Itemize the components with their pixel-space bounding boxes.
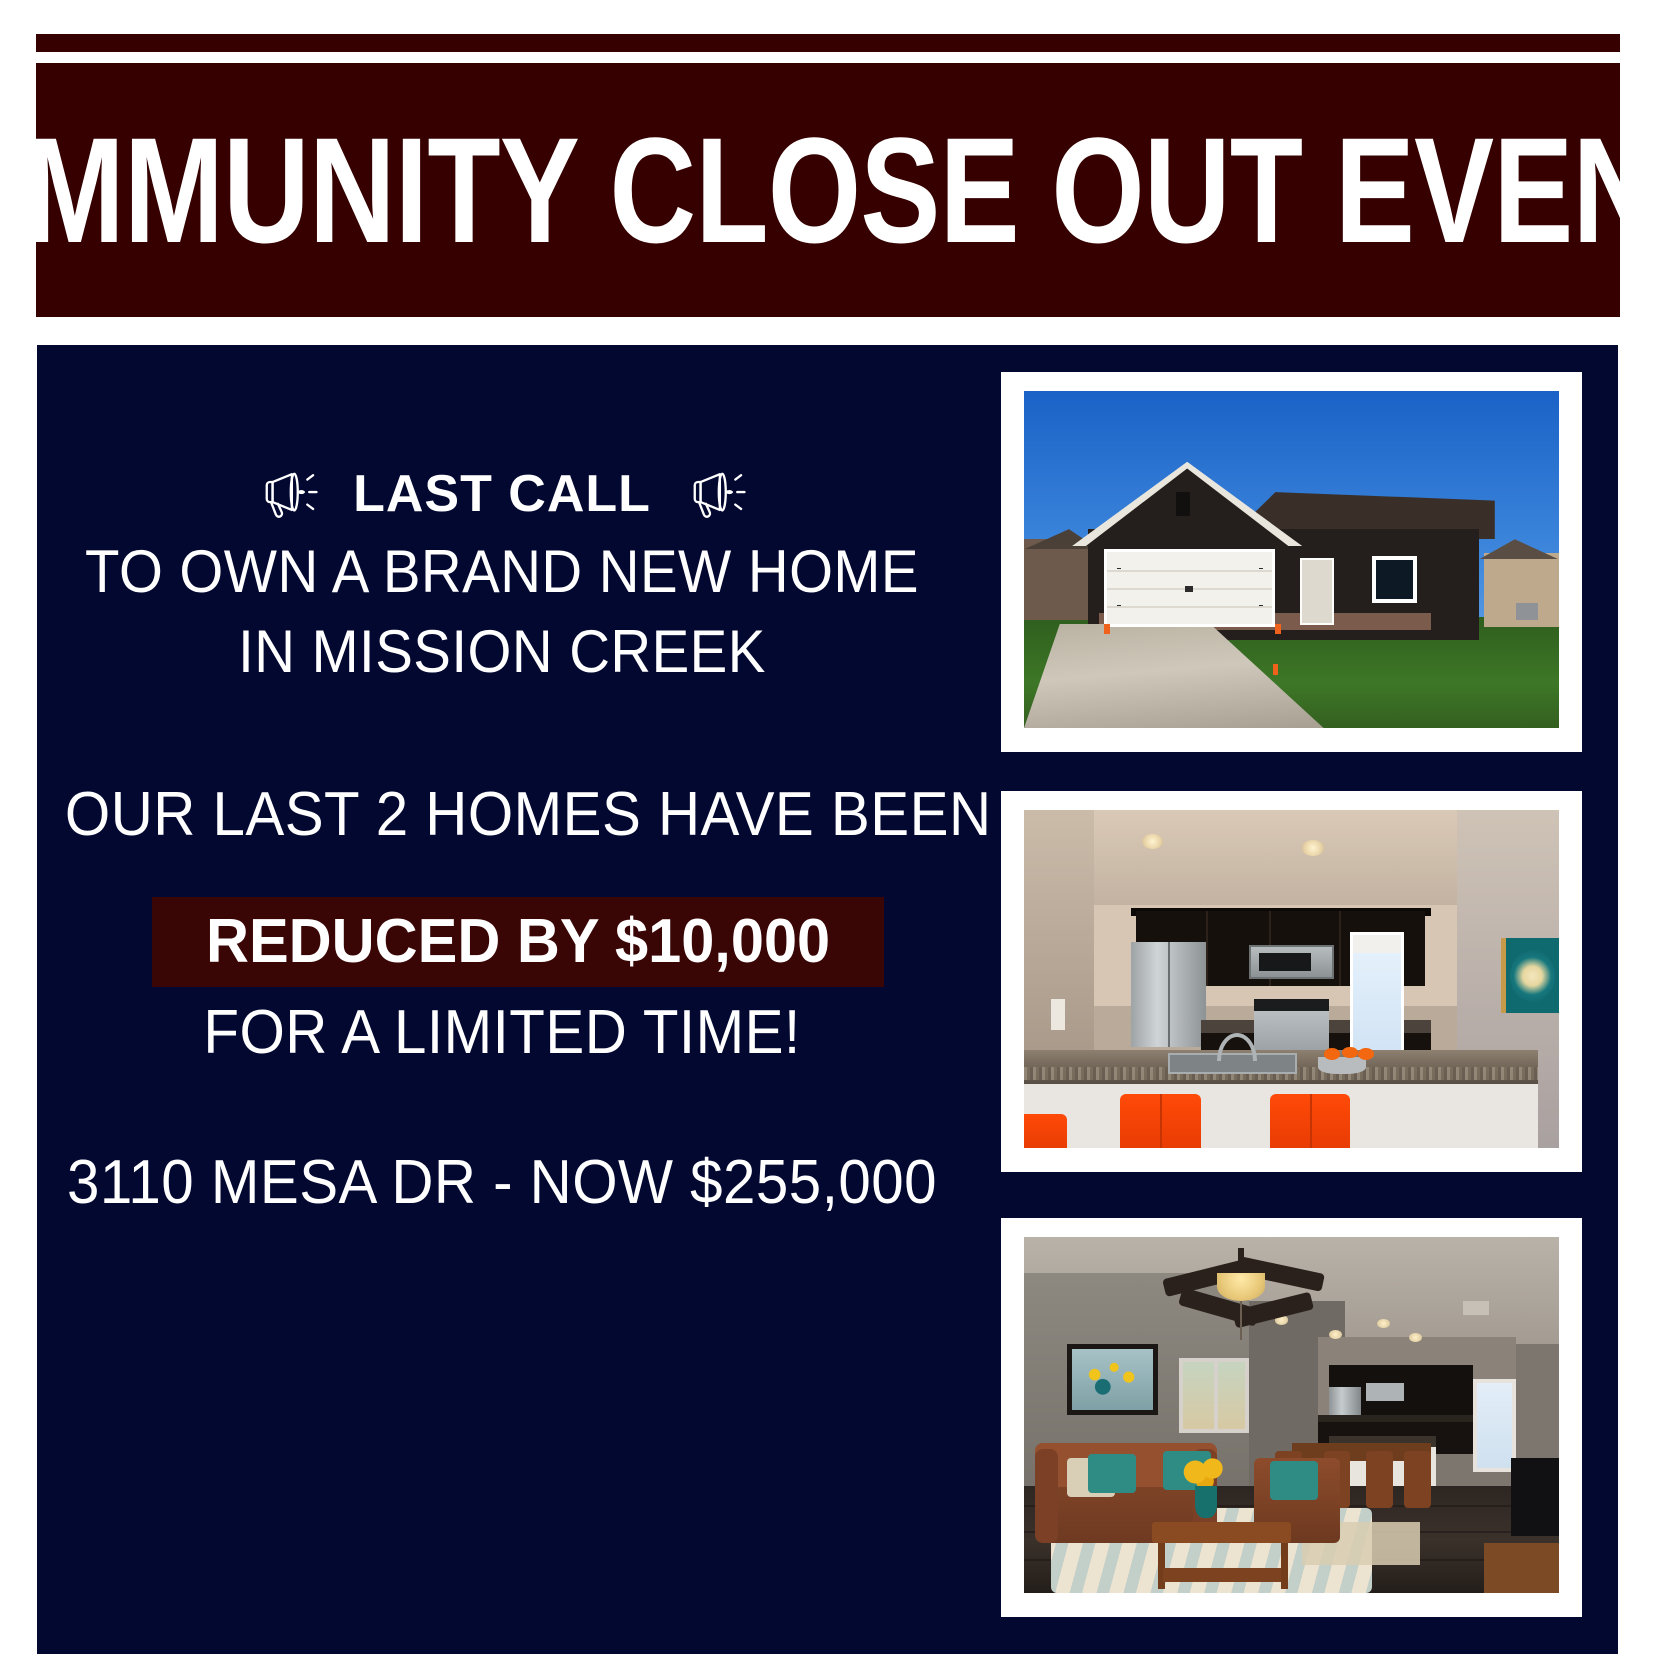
fruit-bowl [1318, 1057, 1366, 1074]
bar-stool [1120, 1094, 1200, 1148]
coffee-table [1152, 1522, 1291, 1543]
last-call-row: LAST CALL [37, 463, 967, 525]
orange-fruit [1324, 1048, 1340, 1060]
range-oven [1254, 999, 1329, 1053]
reduction-highlight-box: REDUCED BY $10,000 [152, 897, 884, 987]
garage-door [1104, 549, 1275, 627]
back-door [1473, 1379, 1516, 1472]
main-panel: LAST CALL TO OWN A BRAND NEW HOME IN MIS… [37, 345, 1618, 1654]
media-console [1484, 1543, 1559, 1593]
bar-stool [1024, 1114, 1067, 1148]
header-banner: COMMUNITY CLOSE OUT EVENT!! [36, 34, 1620, 317]
hero-line-2: IN MISSION CREEK [65, 617, 939, 686]
last-call-label: LAST CALL [353, 468, 651, 520]
header-stripe-gap [36, 52, 1620, 63]
promo-copy-column: LAST CALL TO OWN A BRAND NEW HOME IN MIS… [37, 345, 967, 1654]
fan-downrod [1238, 1248, 1244, 1273]
television [1511, 1458, 1559, 1536]
wall-outlet [1051, 999, 1065, 1029]
throw-pillow [1088, 1454, 1136, 1493]
megaphone-icon [257, 466, 319, 522]
page-title: COMMUNITY CLOSE OUT EVENT!! [0, 115, 1654, 265]
wall-art [1067, 1344, 1158, 1415]
front-window [1372, 556, 1417, 603]
recessed-light [1302, 840, 1323, 855]
living-room-photo-frame [1001, 1218, 1582, 1617]
refrigerator [1131, 942, 1206, 1047]
exterior-photo-frame [1001, 372, 1582, 752]
throw-pillow [1270, 1461, 1318, 1500]
header-top-stripe [36, 34, 1620, 52]
recessed-light [1329, 1330, 1342, 1339]
survey-flag [1104, 624, 1109, 635]
kitchen-photo-frame [1001, 791, 1582, 1172]
coffee-table-shelf [1163, 1568, 1281, 1582]
fan-light-kit [1217, 1273, 1265, 1301]
gable-vent [1176, 492, 1190, 516]
kitchen-photo [1024, 810, 1559, 1148]
microwave [1249, 945, 1335, 979]
window [1179, 1358, 1249, 1433]
recessed-light [1377, 1319, 1390, 1328]
ac-unit [1516, 603, 1537, 620]
dining-chair [1366, 1451, 1393, 1508]
neighbor-house-left [1024, 539, 1094, 620]
microwave [1366, 1383, 1403, 1401]
dining-chair [1404, 1451, 1431, 1508]
survey-flag [1275, 624, 1280, 635]
ceiling-vent [1463, 1301, 1490, 1315]
fan-pull-chain [1240, 1301, 1242, 1340]
exterior-photo [1024, 391, 1559, 728]
hero-line-1: TO OWN A BRAND NEW HOME [65, 537, 939, 606]
address-price-line: 3110 MESA DR - NOW $255,000 [65, 1147, 939, 1218]
front-door [1300, 558, 1335, 625]
wall-art [1501, 938, 1560, 1012]
megaphone-icon [685, 466, 747, 522]
bar-stool [1270, 1094, 1350, 1148]
vase [1195, 1486, 1216, 1518]
survey-flag [1273, 664, 1278, 675]
living-room-photo [1024, 1237, 1559, 1593]
exterior-door [1350, 932, 1404, 1067]
reduction-line-1: OUR LAST 2 HOMES HAVE BEEN [65, 779, 939, 850]
reduction-line-3: FOR A LIMITED TIME! [65, 997, 939, 1068]
recessed-light [1142, 834, 1163, 849]
header-main-band: COMMUNITY CLOSE OUT EVENT!! [36, 63, 1620, 317]
reduction-highlight-text: REDUCED BY $10,000 [206, 911, 830, 973]
